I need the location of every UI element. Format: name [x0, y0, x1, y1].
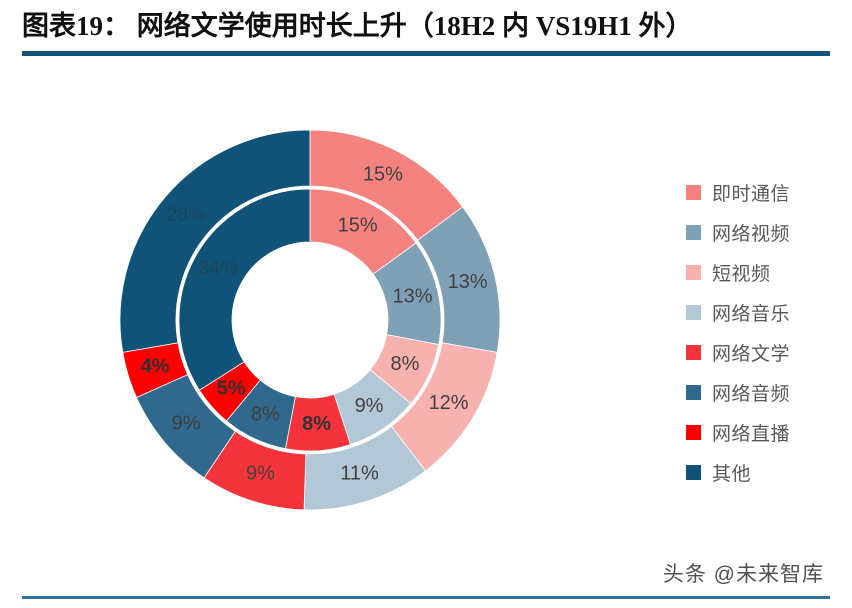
slice-value-label: 28%: [166, 204, 206, 226]
legend-swatch-icon-5: [686, 385, 701, 400]
donut-chart-svg: 15%13%12%11%9%9%4%28% 15%13%8%9%8%8%5%34…: [100, 120, 640, 550]
inner-ring-18h2: [179, 189, 441, 451]
slice-value-label: 9%: [355, 395, 384, 417]
legend-swatch-icon-4: [686, 345, 701, 360]
outer-ring-19h1: [120, 130, 500, 510]
slice-value-label: 34%: [198, 258, 238, 280]
legend-label-5: 网络音频: [712, 379, 790, 406]
title-divider: [22, 51, 830, 56]
slice-value-label: 9%: [172, 413, 201, 435]
slice-value-label: 15%: [363, 164, 403, 186]
legend-swatch-icon-1: [686, 225, 701, 240]
slice-value-label: 5%: [217, 378, 246, 400]
legend-label-4: 网络文学: [712, 339, 790, 366]
slice-value-label: 4%: [141, 355, 170, 377]
legend-item-7[interactable]: 其他: [686, 452, 846, 492]
watermark: 头条 @未来智库: [663, 558, 824, 588]
slice-value-label: 12%: [429, 392, 469, 414]
legend-swatch-icon-2: [686, 265, 701, 280]
slice-value-label: 13%: [392, 285, 432, 307]
legend-item-4[interactable]: 网络文学: [686, 332, 846, 372]
legend-label-7: 其他: [712, 459, 751, 486]
footer-divider: [22, 596, 830, 599]
legend-swatch-icon-6: [686, 425, 701, 440]
donut-chart: 15%13%12%11%9%9%4%28% 15%13%8%9%8%8%5%34…: [100, 120, 640, 550]
legend-item-5[interactable]: 网络音频: [686, 372, 846, 412]
legend-swatch-icon-0: [686, 185, 701, 200]
slice-value-label: 15%: [338, 215, 378, 237]
legend-item-3[interactable]: 网络音乐: [686, 292, 846, 332]
slice-value-label: 8%: [391, 353, 420, 375]
legend-label-3: 网络音乐: [712, 299, 790, 326]
legend-label-0: 即时通信: [712, 179, 790, 206]
legend-swatch-icon-7: [686, 465, 701, 480]
page-title: 图表19： 网络文学使用时长上升（18H2 内 VS19H1 外）: [22, 4, 693, 43]
legend-item-1[interactable]: 网络视频: [686, 212, 846, 252]
legend-swatch-icon-3: [686, 305, 701, 320]
slice-value-label: 11%: [340, 463, 379, 485]
legend-label-2: 短视频: [712, 259, 771, 286]
chart-legend: 即时通信 网络视频 短视频 网络音乐 网络文学 网络音频 网络直播 其他: [686, 172, 846, 492]
legend-label-1: 网络视频: [712, 219, 790, 246]
legend-label-6: 网络直播: [712, 419, 790, 446]
slice-value-label: 8%: [251, 403, 280, 425]
legend-item-2[interactable]: 短视频: [686, 252, 846, 292]
slice-value-label: 13%: [448, 271, 488, 293]
slice-value-label: 9%: [246, 463, 275, 485]
legend-item-6[interactable]: 网络直播: [686, 412, 846, 452]
slice-value-label: 8%: [302, 413, 331, 435]
legend-item-0[interactable]: 即时通信: [686, 172, 846, 212]
chart-header: 图表19： 网络文学使用时长上升（18H2 内 VS19H1 外）: [0, 0, 852, 56]
